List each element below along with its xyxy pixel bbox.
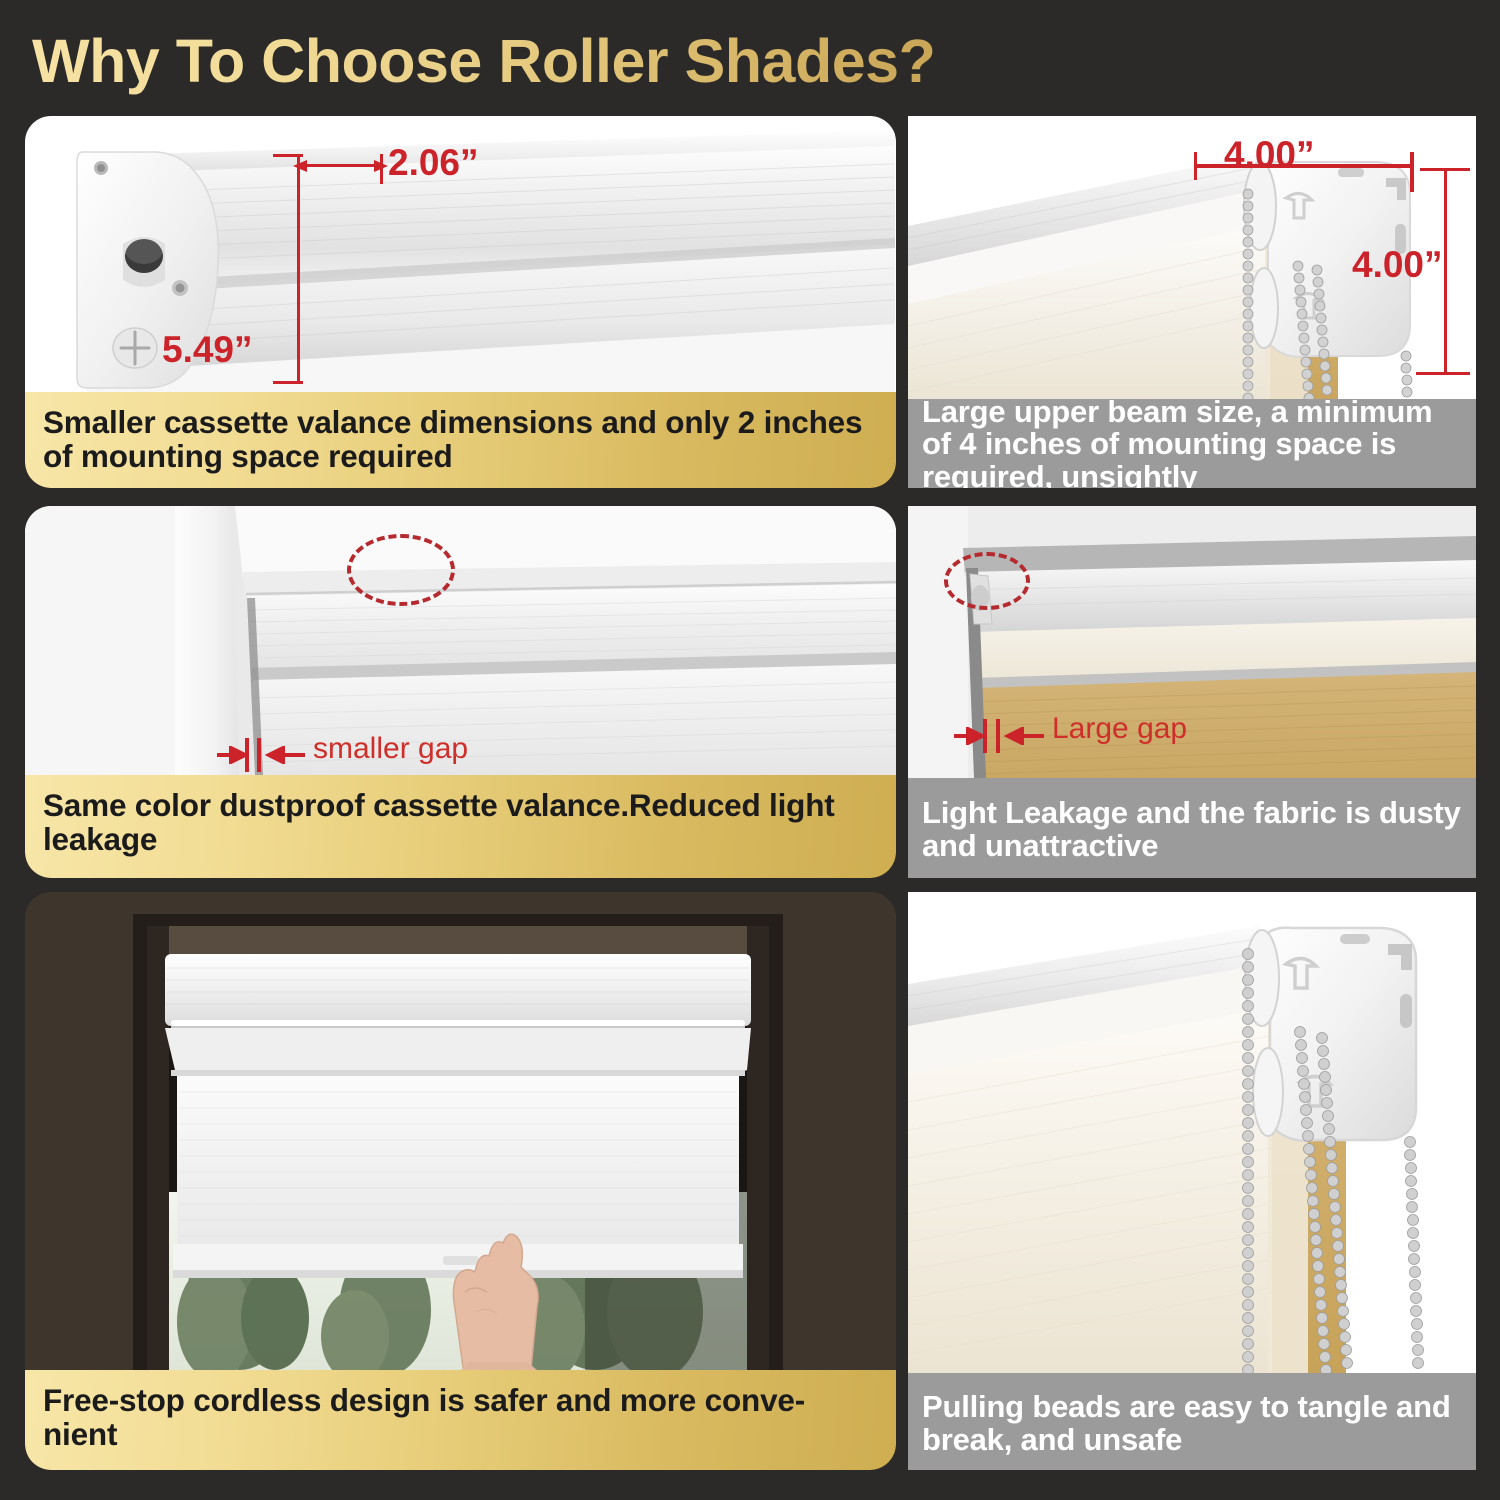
highlight-ellipse-gap <box>944 552 1030 610</box>
dim-line-400-vertical <box>1444 168 1447 374</box>
panel-bad-3-photo <box>908 892 1476 1373</box>
light-leak-closeup-illustration <box>908 506 1476 778</box>
caption-text: Free-stop cordless design is safer and m… <box>43 1384 878 1451</box>
dimension-label-beam-width: 4.00” <box>1224 134 1315 176</box>
gap-arrow-left-icon <box>954 727 984 745</box>
dimension-label-width: 2.06” <box>388 142 479 184</box>
gap-arrow-right-icon <box>265 746 307 764</box>
panel-good-cordless-design: Free-stop cordless design is safer and m… <box>25 892 896 1470</box>
bracket-shape <box>1245 928 1416 1141</box>
panel-good-1-caption: Smaller cassette valance dimensions and … <box>25 392 896 488</box>
panel-bad-pulling-beads: Pulling beads are easy to tangle and bre… <box>908 892 1476 1470</box>
caption-text: Same color dustproof cassette valance.Re… <box>43 789 878 856</box>
panel-good-2-photo: smaller gap <box>25 506 896 775</box>
caption-text: Smaller cassette valance dimensions and … <box>43 406 878 473</box>
caption-text: Pulling beads are easy to tangle and bre… <box>922 1391 1464 1456</box>
beaded-chain-shade-illustration <box>908 892 1476 1373</box>
panel-good-1-photo: 2.06” 5.49” <box>25 116 896 392</box>
panel-good-cassette-size: 2.06” 5.49” Smaller cassette valance dim… <box>25 116 896 488</box>
dim-tick-top-400v <box>1420 168 1470 171</box>
panel-good-3-photo <box>25 892 896 1370</box>
dim-tick-bottom-549 <box>273 381 303 384</box>
panel-bad-2-photo: Large gap <box>908 506 1476 778</box>
panel-good-3-caption: Free-stop cordless design is safer and m… <box>25 1370 896 1470</box>
dim-arrow-right-206 <box>370 158 390 174</box>
panel-good-dustproof-valance: smaller gap Same color dustproof cassett… <box>25 506 896 878</box>
gap-tick-right <box>257 738 261 772</box>
room-window-scene-illustration <box>25 892 896 1370</box>
panel-bad-light-leakage: Large gap Light Leakage and the fabric i… <box>908 506 1476 878</box>
dim-arrow-left-206 <box>291 158 311 174</box>
gap-tick-right <box>996 719 1000 753</box>
dimension-label-beam-height: 4.00” <box>1352 244 1443 286</box>
gap-arrow-right-icon <box>1004 727 1046 745</box>
panel-good-2-caption: Same color dustproof cassette valance.Re… <box>25 775 896 878</box>
dimension-label-height: 5.49” <box>162 329 253 371</box>
panel-bad-3-caption: Pulling beads are easy to tangle and bre… <box>908 1373 1476 1470</box>
gap-annotation-label: Large gap <box>1052 712 1187 746</box>
caption-text: Large upper beam size, a minimum of 4 in… <box>922 396 1464 488</box>
dim-tick-right-400h <box>1410 152 1414 192</box>
highlight-ellipse-gap <box>347 534 455 606</box>
caption-text: Light Leakage and the fabric is dusty an… <box>922 797 1464 862</box>
panel-bad-1-caption: Large upper beam size, a minimum of 4 in… <box>908 399 1476 488</box>
dim-line-549 <box>297 154 300 384</box>
page-title: Why To Choose Roller Shades? <box>32 22 1132 100</box>
panel-bad-1-photo: 4.00” 4.00” <box>908 116 1476 399</box>
gap-annotation-label: smaller gap <box>313 732 468 766</box>
dim-tick-top-549 <box>273 154 303 157</box>
infographic-root: Why To Choose Roller Shades? <box>0 0 1500 1500</box>
panel-bad-beam-size: 4.00” 4.00” Large upper beam size, a min… <box>908 116 1476 488</box>
panel-bad-2-caption: Light Leakage and the fabric is dusty an… <box>908 778 1476 878</box>
gap-arrow-left-icon <box>217 746 247 764</box>
dim-tick-bottom-400v <box>1416 372 1470 375</box>
